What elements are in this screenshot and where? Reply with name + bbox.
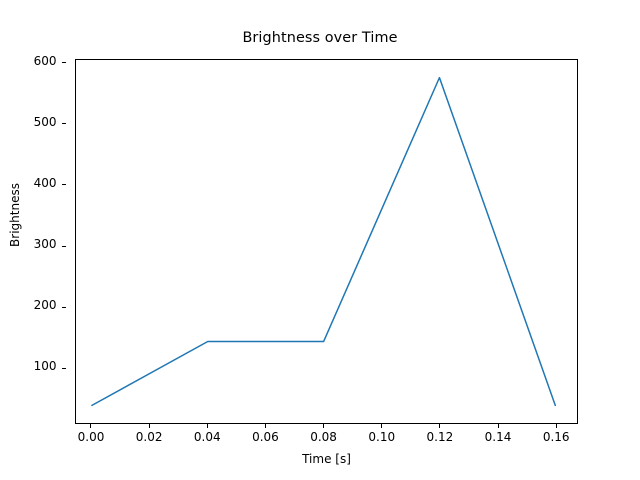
x-axis-label: Time [s] <box>75 452 578 466</box>
chart-title: Brightness over Time <box>0 30 640 46</box>
y-tick-label: 600 <box>34 54 57 68</box>
plot-area <box>75 59 578 424</box>
x-tick-mark <box>207 424 208 428</box>
data-series-brightness <box>92 78 555 406</box>
y-tick-mark <box>62 368 66 369</box>
y-tick-mark <box>62 246 66 247</box>
chart-figure: Brightness over Time Brightness Time [s]… <box>0 0 640 480</box>
y-tick-mark <box>62 184 66 185</box>
y-tick-mark <box>62 62 66 63</box>
y-tick-label: 200 <box>34 298 57 312</box>
x-tick-mark <box>265 424 266 428</box>
x-tick-label: 0.16 <box>516 430 596 444</box>
x-tick-mark <box>149 424 150 428</box>
y-tick-label: 300 <box>34 237 57 251</box>
y-tick-label: 400 <box>34 176 57 190</box>
x-tick-mark <box>90 424 91 428</box>
x-tick-mark <box>439 424 440 428</box>
y-tick-label: 500 <box>34 115 57 129</box>
y-axis-label: Brightness <box>8 170 22 260</box>
x-tick-mark <box>498 424 499 428</box>
y-tick-mark <box>62 123 66 124</box>
y-tick-mark <box>62 307 66 308</box>
x-tick-mark <box>381 424 382 428</box>
x-tick-mark <box>556 424 557 428</box>
y-tick-label: 100 <box>34 359 57 373</box>
data-line-svg <box>76 60 577 423</box>
x-tick-mark <box>323 424 324 428</box>
